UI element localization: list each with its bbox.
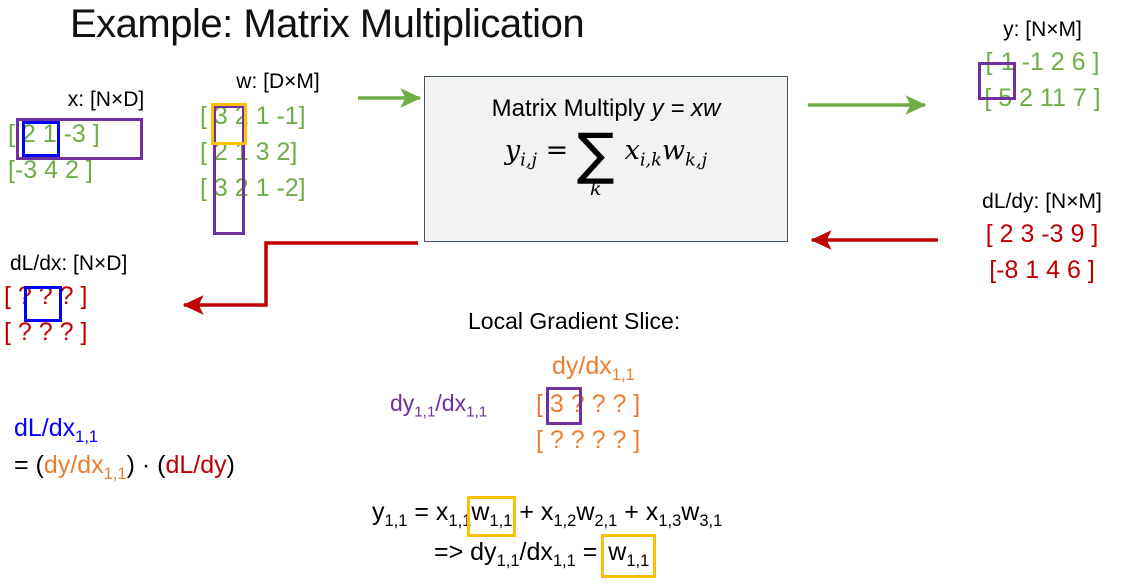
local-gradient-matrix: [ 3 ? ? ? ] [ ? ? ? ? ] <box>536 386 716 458</box>
y-matrix-group: y: [N×M] [-1 -1 2 6 ] [ 5 2 11 7 ] <box>940 18 1145 116</box>
derivation2-eq: = <box>576 538 605 566</box>
formula-term2-sub: k,j <box>685 149 707 170</box>
local-gradient-top-label-sub: 1,1 <box>612 366 635 384</box>
derivation-y: y <box>372 498 385 526</box>
local-gradient-side-label-b-sub: 1,1 <box>466 404 487 421</box>
y-matrix-row-1: [ 5 2 11 7 ] <box>940 80 1145 116</box>
derivation-line-1: y1,1 = x1,1w1,1 + x1,2w2,1 + x1,3w3,1 <box>372 498 722 531</box>
derivation2-slash: /dx <box>520 538 553 566</box>
derivation-eq: = x <box>407 498 448 526</box>
formula-term1-sub: i,k <box>640 149 662 170</box>
chain-rule-local-text: dy/dx <box>44 451 104 479</box>
local-gradient-heading: Local Gradient Slice: <box>468 308 680 335</box>
dldy-matrix-label: dL/dy: [N×M] <box>938 190 1146 214</box>
chain-rule-target-sub: 1,1 <box>75 428 98 446</box>
derivation2-w-boxed: w1,1 <box>608 538 649 571</box>
w-matrix-row-1: [ 2 1 3 2] <box>200 134 370 170</box>
dldx-matrix-group: dL/dx: [N×D] [ ? ? ? ] [ ? ? ? ] <box>4 252 204 350</box>
local-gradient-row-0: [ 3 ? ? ? ] <box>536 386 716 422</box>
matrix-multiply-equation: yi,j = ∑kxi,kwk,j <box>425 135 787 172</box>
dldy-matrix-group: dL/dy: [N×M] [ 2 3 -3 9 ] [-8 1 4 6 ] <box>938 190 1146 288</box>
derivation-plus1: + x <box>512 498 553 526</box>
x-matrix-row-0: [ 2 1 -3 ] <box>8 116 198 152</box>
x-matrix-label: x: [N×D] <box>8 88 198 112</box>
derivation-w1-boxed: w1,1 <box>471 498 512 531</box>
derivation-w2-sub: 2,1 <box>594 512 617 530</box>
derivation-x1-sub: 1,1 <box>448 512 471 530</box>
matrix-multiply-title-formula: y = xw <box>652 95 721 122</box>
matrix-multiply-title: Matrix Multiply y = xw <box>425 95 787 123</box>
chain-rule-mid: ) · ( <box>127 451 166 479</box>
local-gradient-side-label: dy1,1/dx1,1 <box>390 390 487 421</box>
formula-term1: x <box>625 135 640 166</box>
chain-rule-local-term: dy/dx1,1 <box>44 451 127 479</box>
summation-icon: ∑k <box>577 138 615 172</box>
derivation-plus2: + x <box>617 498 658 526</box>
derivation-w1-sub: 1,1 <box>489 512 512 530</box>
x-matrix-group: x: [N×D] [ 2 1 -3 ] [-3 4 2 ] <box>8 88 198 188</box>
formula-term2: w <box>662 135 685 166</box>
local-gradient-side-label-a: dy <box>390 390 414 416</box>
x-matrix-row-1: [-3 4 2 ] <box>8 152 198 188</box>
chain-rule-group: dL/dx1,1 = (dy/dx1,1) · (dL/dy) <box>14 414 235 484</box>
chain-rule-equals: = ( <box>14 451 44 479</box>
chain-rule-line-1: dL/dx1,1 <box>14 414 235 447</box>
local-gradient-side-label-a-sub: 1,1 <box>414 404 435 421</box>
chain-rule-local-sub: 1,1 <box>104 465 127 483</box>
page-title: Example: Matrix Multiplication <box>70 2 584 47</box>
derivation2-w-sub: 1,1 <box>626 552 649 570</box>
matrix-multiply-node: Matrix Multiply y = xw yi,j = ∑kxi,kwk,j <box>424 76 788 242</box>
y-matrix-row-0: [-1 -1 2 6 ] <box>940 44 1145 80</box>
chain-rule-upstream-term: dL/dy <box>165 451 226 479</box>
chain-rule-line-2: = (dy/dx1,1) · (dL/dy) <box>14 451 235 484</box>
formula-lhs-sub: i,j <box>520 149 537 170</box>
y-matrix-label: y: [N×M] <box>940 18 1145 42</box>
local-gradient-top-label: dy/dx1,1 <box>552 352 635 385</box>
derivation-x2-sub: 1,2 <box>553 512 576 530</box>
derivation-y-sub: 1,1 <box>385 512 408 530</box>
derivation-x3-sub: 1,3 <box>658 512 681 530</box>
derivation2-dx-sub: 1,1 <box>553 552 576 570</box>
chain-rule-target: dL/dx <box>14 414 75 442</box>
local-gradient-top-label-text: dy/dx <box>552 352 612 380</box>
dldx-matrix-row-0: [ ? ? ? ] <box>4 278 204 314</box>
w-matrix-group: w: [D×M] [ 3 2 1 -1] [ 2 1 3 2] [ 3 2 1 … <box>200 70 370 206</box>
derivation2-dy-sub: 1,1 <box>497 552 520 570</box>
w-matrix-row-0: [ 3 2 1 -1] <box>200 98 370 134</box>
w-matrix-label: w: [D×M] <box>200 70 370 94</box>
derivation-w1: w <box>471 498 489 526</box>
derivation-w3: w <box>681 498 699 526</box>
derivation2-arrow: => dy <box>434 538 497 566</box>
arrow-box-to-dldx <box>184 243 418 305</box>
w-matrix-row-2: [ 3 2 1 -2] <box>200 170 370 206</box>
dldy-matrix-row-0: [ 2 3 -3 9 ] <box>938 216 1146 252</box>
dldy-matrix-row-1: [-8 1 4 6 ] <box>938 252 1146 288</box>
chain-rule-close: ) <box>227 451 235 479</box>
local-gradient-row-1: [ ? ? ? ? ] <box>536 422 716 458</box>
derivation-line-2: => dy1,1/dx1,1 = w1,1 <box>434 538 649 571</box>
derivation-w2: w <box>576 498 594 526</box>
dldx-matrix-label: dL/dx: [N×D] <box>4 252 204 276</box>
formula-equals: = <box>537 135 577 166</box>
formula-lhs: y <box>505 135 520 166</box>
matrix-multiply-title-text: Matrix Multiply <box>492 95 652 122</box>
sigma-index: k <box>590 184 602 195</box>
dldx-matrix-row-1: [ ? ? ? ] <box>4 314 204 350</box>
derivation-w3-sub: 3,1 <box>699 512 722 530</box>
derivation2-w: w <box>608 538 626 566</box>
local-gradient-side-label-b: /dx <box>435 390 466 416</box>
